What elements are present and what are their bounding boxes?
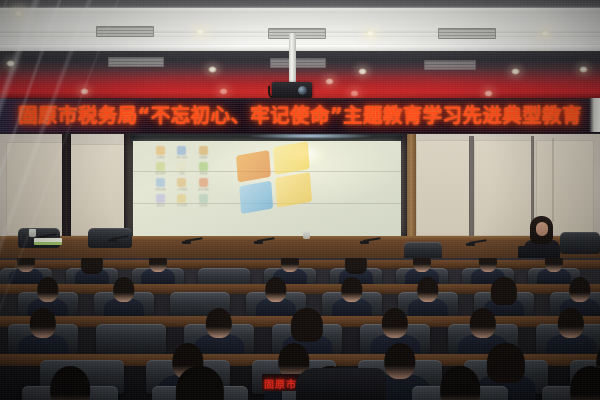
desktop-icon-label: 办公软件	[151, 172, 170, 175]
desktop-icon-label: 回收站	[194, 156, 213, 159]
audience-member	[170, 364, 230, 400]
pen-cup	[29, 229, 36, 237]
ceiling-light	[6, 60, 15, 67]
desktop-icon-label: 计算机	[151, 156, 170, 159]
audience-member-head	[341, 277, 362, 302]
ceiling-beam	[0, 8, 600, 13]
desktop-icon-glyph	[199, 194, 208, 203]
ceiling-light	[208, 66, 217, 73]
air-vent	[96, 26, 154, 37]
desktop-icon-label: 演示文稿	[194, 188, 213, 191]
projection-screen: 计算机网上邻居回收站办公软件文档浏览器税务系统工作台账演示文稿通讯录共享文件打印…	[133, 141, 401, 236]
wall-panel	[70, 144, 128, 236]
air-vent	[268, 28, 326, 39]
windows-logo-icon	[236, 141, 314, 215]
desktop-icon-glyph	[199, 162, 208, 171]
led-banner: 固原市税务局“不忘初心、牢记使命”主题教育学习先进典型教育	[0, 98, 600, 134]
green-document	[34, 238, 62, 245]
desktop-icon-label: 共享文件	[172, 204, 191, 207]
podium-microphone	[360, 236, 384, 244]
wall-trim	[469, 136, 474, 236]
podium-microphone	[108, 234, 132, 242]
desktop-icon-glyph	[156, 162, 165, 171]
audience-member-head	[265, 277, 286, 302]
desktop-icon-label: 文档	[172, 172, 191, 175]
ceiling-beam	[0, 45, 600, 51]
audience-chair	[96, 324, 166, 354]
desktop-icon: 工作台账	[172, 178, 191, 191]
podium-microphone	[182, 236, 206, 244]
audience-member-head	[176, 366, 224, 400]
desktop-icon: 办公软件	[151, 162, 170, 175]
audience-member-head	[570, 366, 600, 400]
wall-seam	[552, 138, 554, 222]
desktop-icon-glyph	[156, 194, 165, 203]
audience-member-head	[487, 343, 525, 383]
audience-member-head	[50, 366, 90, 400]
desktop-icon: 文档	[172, 162, 191, 175]
air-vent	[270, 58, 326, 68]
podium-chair	[560, 232, 600, 254]
audience-member-head	[382, 308, 408, 338]
audience-member-head	[440, 366, 480, 400]
desktop-icon: 浏览器	[194, 162, 213, 175]
desktop-icon-glyph	[177, 194, 186, 203]
ceiling-light	[541, 30, 550, 37]
audience-member-head	[30, 308, 56, 338]
audience-member-head	[545, 258, 563, 272]
desktop-icon-glyph	[177, 178, 186, 187]
ceiling-light	[579, 66, 588, 73]
audience-member-head	[37, 277, 58, 302]
audience-member-head	[417, 277, 438, 302]
projector-mount-pole	[289, 33, 296, 85]
air-vent	[108, 57, 164, 67]
air-vent	[438, 28, 496, 39]
desktop-icon-glyph	[199, 146, 208, 155]
audience-member-head	[558, 308, 584, 338]
desktop-icon-glyph	[177, 162, 186, 171]
wall-panel	[474, 140, 534, 236]
desktop-icon: 税务系统	[151, 178, 170, 191]
audience-member-head	[281, 258, 299, 272]
audience-member-head	[113, 277, 134, 302]
foreground-person-silhouette	[296, 368, 386, 400]
wall-trim	[62, 134, 71, 238]
ceiling-light	[14, 10, 23, 17]
audience-member-head	[291, 308, 323, 342]
desktop-icon: 网上邻居	[172, 146, 191, 159]
ceiling-light	[366, 30, 375, 37]
desktop-icon: 打印机	[194, 194, 213, 207]
audience-member-head	[81, 258, 103, 274]
wall-panel	[416, 140, 470, 236]
wall-trim	[124, 132, 133, 238]
audience-member-head	[345, 258, 367, 274]
desktop-icon: 共享文件	[172, 194, 191, 207]
desktop-icon: 回收站	[194, 146, 213, 159]
desktop-icon-glyph	[156, 146, 165, 155]
desktop-icon-glyph	[199, 178, 208, 187]
audience-member-head	[569, 277, 590, 302]
audience-member-head	[206, 308, 232, 338]
wall-edge-highlight	[589, 98, 600, 132]
desktop-icon: 通讯录	[151, 194, 170, 207]
desktop-icon-label: 工作台账	[172, 188, 191, 191]
audience-member-head	[384, 343, 415, 379]
audience-member	[430, 364, 490, 400]
pen-cup	[303, 231, 310, 239]
audience-member-head	[413, 258, 431, 272]
desktop-icon-label: 税务系统	[151, 188, 170, 191]
podium-microphone	[466, 238, 490, 246]
wall-panel	[6, 142, 64, 236]
desktop-icon-label: 浏览器	[194, 172, 213, 175]
desktop-icon: 演示文稿	[194, 178, 213, 191]
audience-member-head	[491, 277, 517, 305]
audience-member-head	[149, 258, 167, 272]
audience-member	[560, 364, 600, 400]
audience-member	[40, 364, 100, 400]
air-vent	[424, 60, 476, 70]
audience-member-head	[470, 308, 496, 338]
wall-wood-column	[407, 134, 416, 238]
led-banner-text: 固原市税务局“不忘初心、牢记使命”主题教育学习先进典型教育	[0, 99, 600, 133]
projector-lens-icon	[298, 86, 307, 95]
desktop-icon: 计算机	[151, 146, 170, 159]
desktop-icon-label: 通讯录	[151, 204, 170, 207]
desktop-icon-label: 网上邻居	[172, 156, 191, 159]
ceiling-light	[196, 28, 205, 35]
desktop-icon-glyph	[177, 146, 186, 155]
desktop-icon-glyph	[156, 178, 165, 187]
audience-member-head	[479, 258, 497, 272]
desktop-icon-label: 打印机	[194, 204, 213, 207]
presenter-face	[536, 222, 548, 236]
desktop-icon-grid: 计算机网上邻居回收站办公软件文档浏览器税务系统工作台账演示文稿通讯录共享文件打印…	[151, 146, 213, 207]
meeting-room-photo: 固原市税务局“不忘初心、牢记使命”主题教育学习先进典型教育 计算机网上邻居回收站…	[0, 0, 600, 400]
secondary-led-text: 固原市	[264, 376, 297, 391]
podium-microphone	[254, 236, 278, 244]
audience-member-head	[17, 258, 35, 272]
